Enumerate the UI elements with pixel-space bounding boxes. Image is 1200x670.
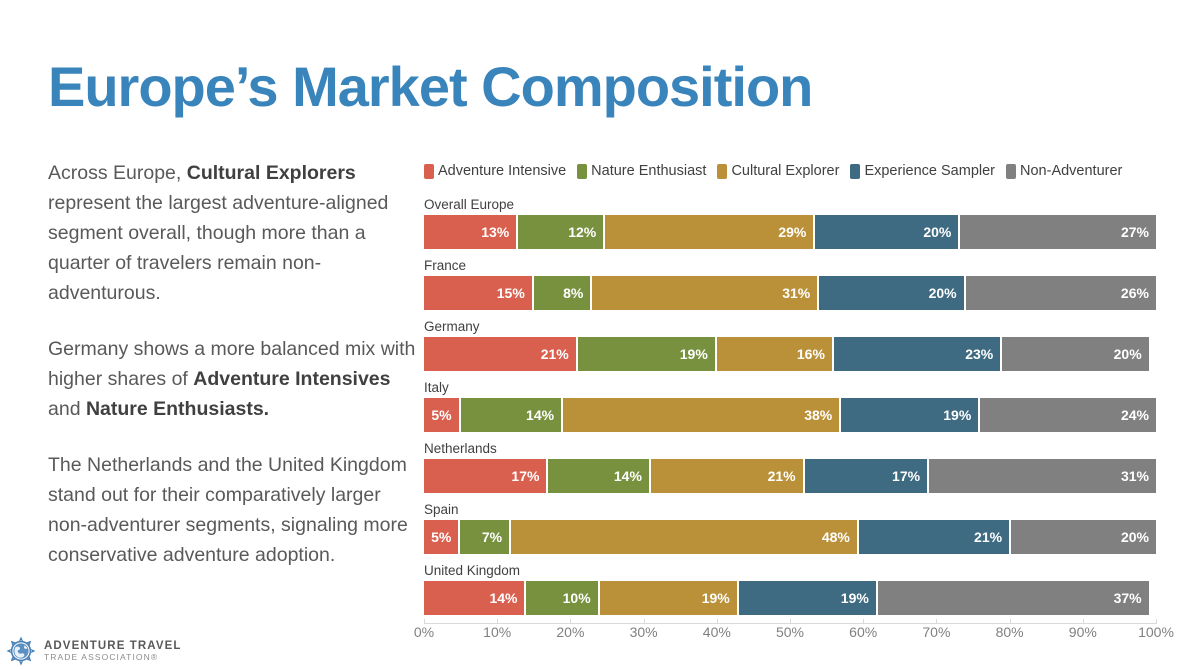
bar-segment-value: 20% xyxy=(1121,529,1149,545)
bar-segment[interactable]: 23% xyxy=(834,337,1002,371)
bar-segment[interactable]: 8% xyxy=(534,276,593,310)
bar-segment-value: 12% xyxy=(568,224,596,240)
narrative-paragraph-2: Germany shows a more balanced mix with h… xyxy=(48,334,420,424)
legend-item[interactable]: Experience Sampler xyxy=(850,163,995,179)
legend-item[interactable]: Nature Enthusiast xyxy=(577,163,706,179)
narrative-paragraph-1: Across Europe, Cultural Explorers repres… xyxy=(48,158,420,308)
bar-segment-value: 38% xyxy=(804,407,832,423)
page-title: Europe’s Market Composition xyxy=(48,58,812,117)
axis-tick-label: 0% xyxy=(414,624,434,640)
legend-item[interactable]: Cultural Explorer xyxy=(717,163,839,179)
bar-row: 14%10%19%19%37% xyxy=(424,581,1156,615)
bar-segment-value: 19% xyxy=(943,407,971,423)
bar-segment-value: 14% xyxy=(614,468,642,484)
bar-segment[interactable]: 17% xyxy=(805,459,929,493)
bar-segment-value: 23% xyxy=(965,346,993,362)
bar-segment[interactable]: 20% xyxy=(1002,337,1148,371)
bar-segment[interactable]: 7% xyxy=(460,520,511,554)
legend-swatch-icon xyxy=(424,164,434,179)
logo-text-block: ADVENTURE TRAVEL TRADE ASSOCIATION® xyxy=(44,640,182,662)
bar-segment-value: 19% xyxy=(680,346,708,362)
chart-plot: Overall Europe13%12%29%20%27%France15%8%… xyxy=(424,196,1172,646)
bar-row: 5%7%48%21%20% xyxy=(424,520,1156,554)
axis-tick-label: 40% xyxy=(703,624,731,640)
legend-item[interactable]: Non-Adventurer xyxy=(1006,163,1122,179)
bar-group: France15%8%31%20%26% xyxy=(424,257,1172,310)
legend-item[interactable]: Adventure Intensive xyxy=(424,163,566,179)
body-text: The Netherlands and the United Kingdom s… xyxy=(48,454,408,566)
legend-label: Adventure Intensive xyxy=(438,163,566,179)
bar-segment[interactable]: 13% xyxy=(424,215,518,249)
bar-segment-value: 21% xyxy=(974,529,1002,545)
emphasis-text: Cultural Explorers xyxy=(187,162,356,184)
bar-segment-value: 13% xyxy=(481,224,509,240)
chart-legend: Adventure IntensiveNature EnthusiastCult… xyxy=(424,160,1176,182)
bar-segment[interactable]: 12% xyxy=(518,215,605,249)
axis-tick-label: 90% xyxy=(1069,624,1097,640)
bar-segment[interactable]: 14% xyxy=(548,459,650,493)
bar-segment-value: 19% xyxy=(841,590,869,606)
bar-segment[interactable]: 14% xyxy=(461,398,563,432)
bar-segment[interactable]: 19% xyxy=(739,581,878,615)
bar-segment-value: 26% xyxy=(1121,285,1149,301)
bar-segment-value: 20% xyxy=(923,224,951,240)
bar-segment[interactable]: 31% xyxy=(592,276,819,310)
bar-groups: Overall Europe13%12%29%20%27%France15%8%… xyxy=(424,196,1172,615)
bar-group: Germany21%19%16%23%20% xyxy=(424,318,1172,371)
narrative-paragraph-3: The Netherlands and the United Kingdom s… xyxy=(48,450,420,570)
bar-segment[interactable]: 38% xyxy=(563,398,841,432)
legend-swatch-icon xyxy=(577,164,587,179)
bar-segment[interactable]: 5% xyxy=(424,520,460,554)
bar-category-label: Italy xyxy=(424,379,1172,396)
bar-segment[interactable]: 17% xyxy=(424,459,548,493)
bar-segment[interactable]: 21% xyxy=(424,337,578,371)
legend-swatch-icon xyxy=(850,164,860,179)
bar-row: 21%19%16%23%20% xyxy=(424,337,1156,371)
bar-segment-value: 21% xyxy=(768,468,796,484)
bar-segment-value: 10% xyxy=(563,590,591,606)
bar-segment[interactable]: 31% xyxy=(929,459,1156,493)
axis-tick-label: 20% xyxy=(556,624,584,640)
bar-segment[interactable]: 29% xyxy=(605,215,815,249)
bar-group: Italy5%14%38%19%24% xyxy=(424,379,1172,432)
bar-segment-value: 7% xyxy=(482,529,502,545)
bar-segment[interactable]: 14% xyxy=(424,581,526,615)
bar-segment[interactable]: 16% xyxy=(717,337,834,371)
bar-category-label: Overall Europe xyxy=(424,196,1172,213)
bar-segment-value: 31% xyxy=(1121,468,1149,484)
axis-tick-label: 60% xyxy=(849,624,877,640)
bar-category-label: France xyxy=(424,257,1172,274)
legend-label: Non-Adventurer xyxy=(1020,163,1122,179)
body-text: Across Europe, xyxy=(48,162,187,184)
footer-logo: ADVENTURE TRAVEL TRADE ASSOCIATION® xyxy=(6,636,182,666)
bar-segment-value: 21% xyxy=(541,346,569,362)
bar-segment-value: 29% xyxy=(778,224,806,240)
globe-compass-icon xyxy=(6,636,36,666)
bar-category-label: United Kingdom xyxy=(424,562,1172,579)
bar-category-label: Spain xyxy=(424,501,1172,518)
bar-category-label: Netherlands xyxy=(424,440,1172,457)
bar-segment-value: 8% xyxy=(563,285,583,301)
bar-segment-value: 16% xyxy=(797,346,825,362)
bar-segment-value: 48% xyxy=(822,529,850,545)
axis-tick-label: 50% xyxy=(776,624,804,640)
axis-tick-label: 70% xyxy=(922,624,950,640)
legend-label: Cultural Explorer xyxy=(731,163,839,179)
bar-row: 5%14%38%19%24% xyxy=(424,398,1156,432)
emphasis-text: Nature Enthusiasts. xyxy=(86,398,269,420)
legend-label: Nature Enthusiast xyxy=(591,163,706,179)
bar-segment-value: 27% xyxy=(1121,224,1149,240)
narrative-column: Across Europe, Cultural Explorers repres… xyxy=(48,158,420,570)
bar-segment[interactable]: 20% xyxy=(815,215,960,249)
bar-segment[interactable]: 26% xyxy=(966,276,1156,310)
logo-secondary-text: TRADE ASSOCIATION® xyxy=(44,653,182,662)
bar-segment-value: 17% xyxy=(511,468,539,484)
body-text: represent the largest adventure-aligned … xyxy=(48,192,388,304)
legend-label: Experience Sampler xyxy=(864,163,995,179)
bar-segment-value: 20% xyxy=(929,285,957,301)
bar-segment[interactable]: 5% xyxy=(424,398,461,432)
logo-primary-text: ADVENTURE TRAVEL xyxy=(44,640,182,652)
bar-segment[interactable]: 21% xyxy=(859,520,1011,554)
bar-segment-value: 24% xyxy=(1121,407,1149,423)
bar-segment-value: 5% xyxy=(431,529,451,545)
legend-swatch-icon xyxy=(1006,164,1016,179)
bar-segment[interactable]: 24% xyxy=(980,398,1156,432)
bar-category-label: Germany xyxy=(424,318,1172,335)
legend-swatch-icon xyxy=(717,164,727,179)
bar-segment[interactable]: 15% xyxy=(424,276,534,310)
axis-tick-label: 80% xyxy=(996,624,1024,640)
bar-segment-value: 15% xyxy=(497,285,525,301)
bar-segment-value: 17% xyxy=(892,468,920,484)
emphasis-text: Adventure Intensives xyxy=(193,368,390,390)
bar-segment-value: 19% xyxy=(702,590,730,606)
axis-tick-label: 30% xyxy=(630,624,658,640)
bar-segment[interactable]: 19% xyxy=(578,337,717,371)
bar-segment[interactable]: 20% xyxy=(1011,520,1156,554)
bar-segment[interactable]: 10% xyxy=(526,581,599,615)
bar-row: 15%8%31%20%26% xyxy=(424,276,1156,310)
bar-segment-value: 14% xyxy=(489,590,517,606)
bar-segment-value: 14% xyxy=(526,407,554,423)
axis-tick-label: 100% xyxy=(1138,624,1174,640)
body-text: and xyxy=(48,398,86,420)
bar-row: 13%12%29%20%27% xyxy=(424,215,1156,249)
bar-segment-value: 5% xyxy=(431,407,451,423)
bar-segment[interactable]: 20% xyxy=(819,276,965,310)
bar-group: Overall Europe13%12%29%20%27% xyxy=(424,196,1172,249)
bar-segment[interactable]: 48% xyxy=(511,520,859,554)
bar-row: 17%14%21%17%31% xyxy=(424,459,1156,493)
axis-tick-label: 10% xyxy=(483,624,511,640)
x-axis: 0%10%20%30%40%50%60%70%80%90%100% xyxy=(424,623,1156,646)
chart-container: Adventure IntensiveNature EnthusiastCult… xyxy=(424,160,1176,646)
bar-group: Spain5%7%48%21%20% xyxy=(424,501,1172,554)
bar-group: United Kingdom14%10%19%19%37% xyxy=(424,562,1172,615)
bar-segment-value: 31% xyxy=(782,285,810,301)
bar-segment[interactable]: 37% xyxy=(878,581,1149,615)
bar-segment-value: 20% xyxy=(1114,346,1142,362)
bar-segment[interactable]: 21% xyxy=(651,459,805,493)
axis-tick-labels: 0%10%20%30%40%50%60%70%80%90%100% xyxy=(424,624,1156,646)
bar-segment[interactable]: 19% xyxy=(600,581,739,615)
bar-segment-value: 37% xyxy=(1114,590,1142,606)
bar-segment[interactable]: 19% xyxy=(841,398,980,432)
bar-segment[interactable]: 27% xyxy=(960,215,1156,249)
bar-group: Netherlands17%14%21%17%31% xyxy=(424,440,1172,493)
